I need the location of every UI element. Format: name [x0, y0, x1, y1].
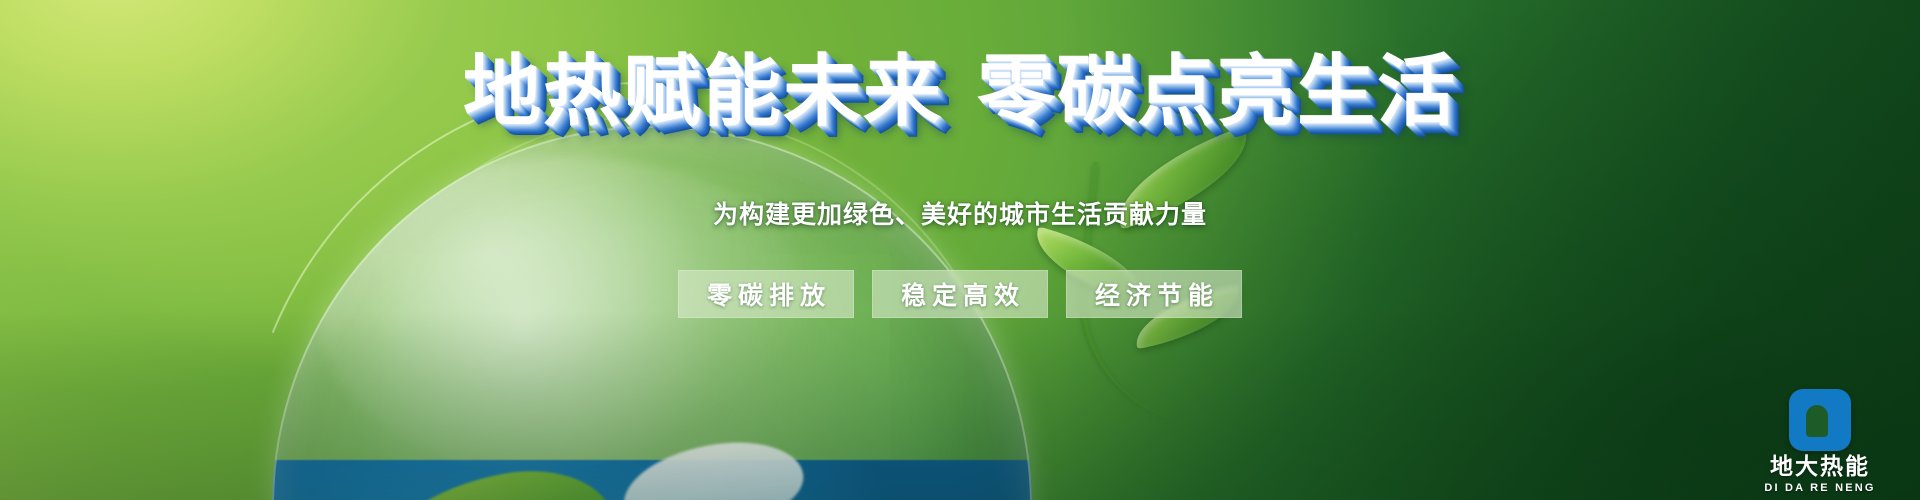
headline-part-1: 地热赋能未来 — [463, 47, 943, 135]
banner-content: 地热赋能未来零碳点亮生活 为构建更加绿色、美好的城市生活贡献力量 零碳排放 稳定… — [0, 0, 1920, 500]
logo-name-chinese: 地大热能 — [1770, 454, 1870, 479]
feature-pill-economical[interactable]: 经济节能 — [1066, 270, 1242, 318]
logo-mark-counter — [1806, 405, 1828, 437]
headline-part-2: 零碳点亮生活 — [977, 47, 1457, 135]
banner-headline: 地热赋能未来零碳点亮生活 — [0, 52, 1920, 130]
logo-mark-icon — [1789, 389, 1851, 451]
feature-pill-list: 零碳排放 稳定高效 经济节能 — [0, 270, 1920, 318]
feature-pill-zero-carbon[interactable]: 零碳排放 — [678, 270, 854, 318]
feature-pill-stable-efficient[interactable]: 稳定高效 — [872, 270, 1048, 318]
banner-subtitle: 为构建更加绿色、美好的城市生活贡献力量 — [0, 199, 1920, 232]
logo-name-pinyin: DI DA RE NENG — [1764, 482, 1875, 494]
company-logo[interactable]: 地大热能 DI DA RE NENG — [1754, 389, 1886, 494]
hero-banner: 地热赋能未来零碳点亮生活 为构建更加绿色、美好的城市生活贡献力量 零碳排放 稳定… — [0, 0, 1920, 500]
